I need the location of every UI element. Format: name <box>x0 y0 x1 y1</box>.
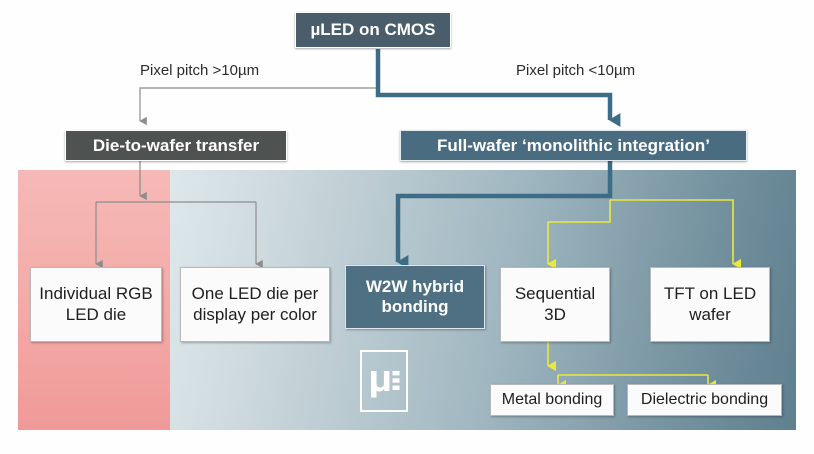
root-node-label: µLED on CMOS <box>310 20 435 40</box>
micro-glyph-icon <box>367 364 401 398</box>
edge-label-left-text: Pixel pitch >10µm <box>140 62 259 79</box>
leaf-individual-rgb-led-die[interactable]: Individual RGB LED die <box>30 267 162 342</box>
branch-node-right-label: Full-wafer ‘monolithic integration’ <box>437 136 710 156</box>
leaf-individual-rgb-led-die-label: Individual RGB LED die <box>37 284 155 324</box>
branch-node-left-label: Die-to-wafer transfer <box>93 136 259 156</box>
leaf-w2w-hybrid-bonding-label: W2W hybrid bonding <box>352 277 478 317</box>
leaf-tft-on-led-wafer-label: TFT on LED wafer <box>657 284 763 324</box>
leaf-metal-bonding[interactable]: Metal bonding <box>490 384 614 416</box>
leaf-sequential-3d-label: Sequential 3D <box>507 284 603 324</box>
root-node-uled-on-cmos[interactable]: µLED on CMOS <box>295 12 451 48</box>
leaf-one-led-die-per-display-per-color[interactable]: One LED die per display per color <box>180 267 330 342</box>
branch-node-die-to-wafer-transfer[interactable]: Die-to-wafer transfer <box>65 130 287 161</box>
edge-label-left-pixel-pitch: Pixel pitch >10µm <box>140 62 259 79</box>
micro-led-logo <box>360 350 408 412</box>
diagram-canvas: µLED on CMOS Pixel pitch >10µm Pixel pit… <box>0 0 814 454</box>
leaf-tft-on-led-wafer[interactable]: TFT on LED wafer <box>650 267 770 342</box>
edge-label-right-pixel-pitch: Pixel pitch <10µm <box>516 62 635 79</box>
leaf-w2w-hybrid-bonding[interactable]: W2W hybrid bonding <box>345 265 485 329</box>
leaf-dielectric-bonding-label: Dielectric bonding <box>641 391 768 410</box>
leaf-metal-bonding-label: Metal bonding <box>502 391 603 410</box>
leaf-dielectric-bonding[interactable]: Dielectric bonding <box>627 384 782 416</box>
leaf-sequential-3d[interactable]: Sequential 3D <box>500 267 610 342</box>
leaf-one-led-die-label: One LED die per display per color <box>187 284 323 324</box>
edge-label-right-text: Pixel pitch <10µm <box>516 62 635 79</box>
branch-node-full-wafer-monolithic-integration[interactable]: Full-wafer ‘monolithic integration’ <box>400 130 747 161</box>
